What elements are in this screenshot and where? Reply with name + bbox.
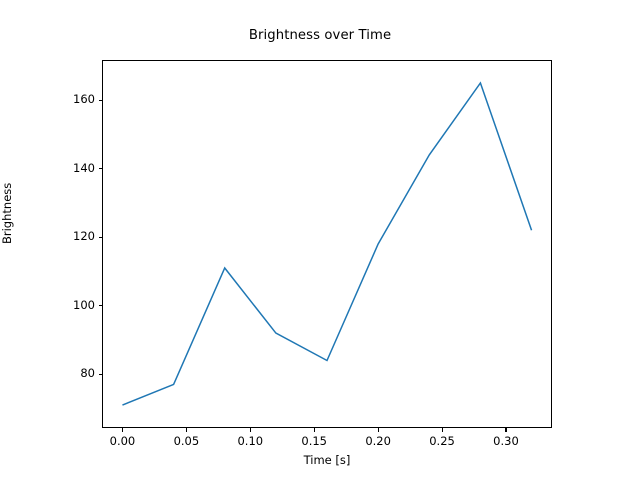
x-tick-mark — [505, 428, 506, 432]
x-tick-label: 0.20 — [353, 434, 403, 448]
x-tick-label: 0.10 — [225, 434, 275, 448]
y-tick-label: 100 — [73, 298, 95, 312]
y-tick-label: 160 — [73, 92, 95, 106]
y-tick-mark — [99, 374, 103, 375]
x-tick-mark — [442, 428, 443, 432]
x-tick-mark — [250, 428, 251, 432]
x-tick-label: 0.30 — [481, 434, 531, 448]
y-tick-mark — [99, 168, 103, 169]
y-axis-label: Brightness — [0, 232, 14, 244]
y-tick-label: 80 — [80, 366, 95, 380]
chart-title: Brightness over Time — [0, 28, 640, 43]
x-tick-label: 0.15 — [289, 434, 339, 448]
y-tick-mark — [99, 305, 103, 306]
brightness-line — [122, 83, 531, 405]
x-tick-label: 0.25 — [417, 434, 467, 448]
y-tick-label: 140 — [73, 161, 95, 175]
x-tick-mark — [186, 428, 187, 432]
x-axis-label: Time [s] — [102, 453, 552, 467]
y-tick-mark — [99, 237, 103, 238]
plot-area — [102, 60, 552, 428]
x-tick-mark — [378, 428, 379, 432]
y-tick-label: 120 — [73, 229, 95, 243]
figure-canvas: Brightness over Time 80100120140160 0.00… — [0, 0, 640, 480]
x-tick-mark — [314, 428, 315, 432]
x-tick-label: 0.00 — [97, 434, 147, 448]
x-tick-label: 0.05 — [161, 434, 211, 448]
x-tick-mark — [122, 428, 123, 432]
y-tick-mark — [99, 100, 103, 101]
